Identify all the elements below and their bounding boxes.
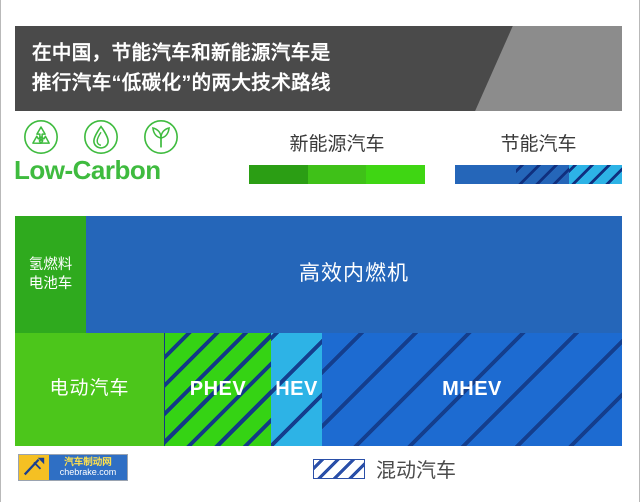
legend-eco-car: 节能汽车: [455, 132, 622, 184]
chart-cell-mhev-label: MHEV: [442, 377, 502, 403]
page-root: 在中国，节能汽车和新能源汽车是 推行汽车“低碳化”的两大技术路线: [0, 0, 640, 502]
legend-nev-seg-2: [308, 165, 367, 184]
chart-cell-hev-label: HEV: [275, 377, 318, 403]
legend-eco-car-label: 节能汽车: [455, 132, 622, 158]
water-drop-icon: [82, 118, 120, 156]
recycle-icon: [22, 118, 60, 156]
chart-cell-ice[interactable]: 高效内燃机: [86, 216, 622, 333]
watermark-pick-icon: [19, 455, 49, 480]
chart-cell-ev[interactable]: 电动汽车: [15, 333, 164, 446]
chart-cell-phev[interactable]: PHEV: [164, 333, 271, 446]
chart-cell-ev-label: 电动汽车: [49, 377, 129, 401]
low-carbon-title: Low-Carbon: [14, 155, 224, 186]
chart-cell-hev[interactable]: HEV: [271, 333, 322, 446]
hybrid-legend-swatch: [313, 459, 365, 479]
chart-cell-phev-label: PHEV: [190, 377, 246, 403]
header-title: 在中国，节能汽车和新能源汽车是 推行汽车“低碳化”的两大技术路线: [32, 38, 331, 98]
legend-eco-car-bar: [455, 165, 622, 184]
hybrid-legend-label: 混动汽车: [376, 454, 456, 483]
legend-nev-label: 新能源汽车: [249, 132, 425, 158]
legend-new-energy-vehicle: 新能源汽车: [249, 132, 425, 184]
legend-eco-seg-2: [516, 165, 569, 184]
low-carbon-icons: [14, 118, 224, 156]
chart-cell-fcev-label: 氢燃料 电池车: [29, 256, 73, 293]
watermark-text: 汽车制动网 chebrake.com: [49, 455, 127, 480]
chart-cell-ice-label: 高效内燃机: [299, 261, 409, 288]
legend-nev-bar: [249, 165, 425, 184]
page-frame-left: [0, 0, 1, 502]
legend-row: Low-Carbon 新能源汽车 节能汽车: [0, 118, 640, 206]
chart-cell-fcev[interactable]: 氢燃料 电池车: [15, 216, 86, 333]
watermark-en: chebrake.com: [60, 468, 117, 477]
legend-eco-seg-3: [569, 165, 622, 184]
hybrid-vehicle-legend: 混动汽车: [313, 454, 456, 483]
legend-nev-seg-1: [249, 165, 308, 184]
technology-roadmap-chart: 氢燃料 电池车 高效内燃机 电动汽车 PHEV HEV MHEV: [15, 216, 622, 446]
site-watermark[interactable]: 汽车制动网 chebrake.com: [18, 454, 128, 481]
chart-cell-mhev[interactable]: MHEV: [322, 333, 622, 446]
leaf-sprout-icon: [142, 118, 180, 156]
header-banner: 在中国，节能汽车和新能源汽车是 推行汽车“低碳化”的两大技术路线: [15, 26, 622, 111]
low-carbon-block: Low-Carbon: [14, 118, 224, 186]
header-title-line2: 推行汽车“低碳化”的两大技术路线: [32, 68, 331, 98]
header-title-line1: 在中国，节能汽车和新能源汽车是: [32, 38, 331, 68]
legend-eco-seg-1: [455, 165, 516, 184]
legend-nev-seg-3: [366, 165, 425, 184]
footer: 汽车制动网 chebrake.com 混动汽车: [0, 446, 640, 502]
